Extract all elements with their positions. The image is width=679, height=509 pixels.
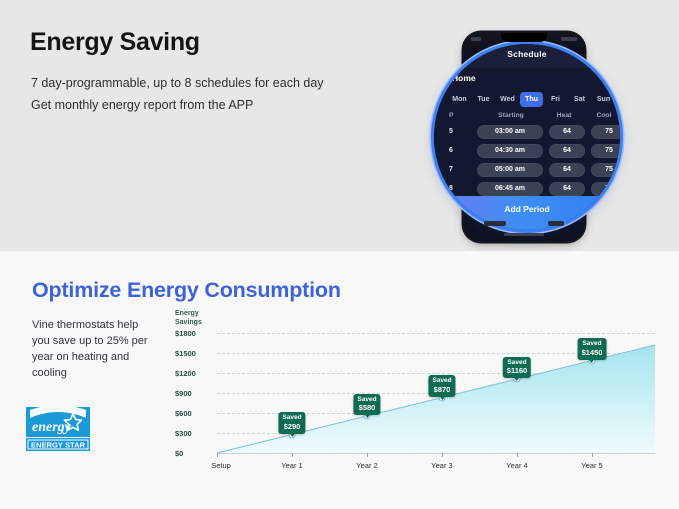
saved-tooltip-year5: Saved $1450 xyxy=(578,338,607,360)
page-root: Energy Saving 7 day-programmable, up to … xyxy=(0,0,679,509)
x-tick-setup xyxy=(217,453,218,457)
row-period: 7 xyxy=(449,166,453,173)
x-label-year2: Year 2 xyxy=(356,461,377,470)
schedule-table-body: 5 03:00 am 64 75 6 04:30 am 64 75 7 05:0… xyxy=(444,125,612,201)
y-tick-1500: $1500 xyxy=(175,349,213,358)
saved-label: Saved xyxy=(432,377,451,385)
saved-label: Saved xyxy=(582,340,603,348)
y-tick-0: $0 xyxy=(175,449,213,458)
row-start-time[interactable]: 03:00 am xyxy=(477,125,543,139)
row-start-time[interactable]: 06:45 am xyxy=(477,182,543,196)
phone-tab-right xyxy=(548,221,564,226)
phone-home-indicator xyxy=(504,233,544,236)
section-title: Optimize Energy Consumption xyxy=(32,278,341,303)
y-tick-900: $900 xyxy=(175,389,213,398)
day-tab-thu[interactable]: Thu xyxy=(520,92,543,107)
y-tick-600: $600 xyxy=(175,409,213,418)
page-subtitle: 7 day-programmable, up to 8 schedules fo… xyxy=(31,72,411,116)
phone-notch xyxy=(501,33,547,42)
add-period-label: Add Period xyxy=(434,204,620,214)
column-header-cool: Cool xyxy=(584,112,620,119)
row-cool-setpoint[interactable]: 75 xyxy=(591,182,620,196)
energy-star-logo: energy ENERGY STAR xyxy=(26,407,90,451)
row-heat-setpoint[interactable]: 64 xyxy=(549,144,585,158)
table-row: 7 05:00 am 64 75 xyxy=(444,163,612,179)
column-header-starting: Starting xyxy=(481,112,541,119)
app-header: Schedule xyxy=(434,44,620,68)
saved-label: Saved xyxy=(282,414,301,422)
row-period: 8 xyxy=(449,185,453,192)
saved-amount: $580 xyxy=(357,403,376,412)
optimize-energy-section: Optimize Energy Consumption Vine thermos… xyxy=(0,251,679,509)
x-tick-year2 xyxy=(367,453,368,457)
row-heat-setpoint[interactable]: 64 xyxy=(549,125,585,139)
day-tab-sun[interactable]: Sun xyxy=(592,92,615,107)
day-tab-sat[interactable]: Sat xyxy=(568,92,591,107)
x-tick-year4 xyxy=(517,453,518,457)
energy-star-icon: energy ENERGY STAR xyxy=(26,407,90,451)
app-title: Schedule xyxy=(434,49,620,59)
x-label-year1: Year 1 xyxy=(281,461,302,470)
row-period: 5 xyxy=(449,128,453,135)
day-tab-wed[interactable]: Wed xyxy=(496,92,519,107)
saved-label: Saved xyxy=(507,359,527,367)
x-tick-year3 xyxy=(442,453,443,457)
day-selector[interactable]: Mon Tue Wed Thu Fri Sat Sun xyxy=(448,92,610,107)
energy-savings-chart: Energy Savings $1800 $1500 $1200 $900 $6… xyxy=(175,311,665,486)
y-axis-title: Energy Savings xyxy=(175,309,221,327)
saved-tooltip-year4: Saved $1160 xyxy=(503,357,531,379)
row-period: 6 xyxy=(449,147,453,154)
saved-tooltip-year2: Saved $580 xyxy=(353,394,380,416)
saved-tooltip-year3: Saved $870 xyxy=(428,375,455,397)
subtitle-line-1: 7 day-programmable, up to 8 schedules fo… xyxy=(31,72,411,94)
x-tick-year1 xyxy=(292,453,293,457)
saved-amount: $290 xyxy=(282,422,301,431)
y-tick-300: $300 xyxy=(175,429,213,438)
status-bar-indicators xyxy=(561,37,577,41)
row-cool-setpoint[interactable]: 75 xyxy=(591,125,620,139)
subtitle-line-2: Get monthly energy report from the APP xyxy=(31,94,411,116)
x-label-setup: Setup xyxy=(211,461,231,470)
day-tab-fri[interactable]: Fri xyxy=(544,92,567,107)
day-tab-tue[interactable]: Tue xyxy=(472,92,495,107)
table-row: 6 04:30 am 64 75 xyxy=(444,144,612,160)
page-title: Energy Saving xyxy=(30,28,200,57)
energy-star-wordmark: ENERGY STAR xyxy=(31,441,86,450)
x-axis-line xyxy=(217,453,655,454)
saved-label: Saved xyxy=(357,396,376,404)
column-header-period: P xyxy=(449,112,454,119)
saved-amount: $1160 xyxy=(507,366,527,375)
row-heat-setpoint[interactable]: 64 xyxy=(549,163,585,177)
energy-saving-section: Energy Saving 7 day-programmable, up to … xyxy=(0,0,679,251)
row-start-time[interactable]: 05:00 am xyxy=(477,163,543,177)
x-label-year5: Year 5 xyxy=(581,461,602,470)
schedule-table-header: P Starting Heat Cool xyxy=(444,112,612,124)
y-tick-1800: $1800 xyxy=(175,329,213,338)
phone-tab-left xyxy=(484,221,506,226)
saved-amount: $1450 xyxy=(582,348,603,357)
home-label: Home xyxy=(452,73,476,83)
row-cool-setpoint[interactable]: 75 xyxy=(591,144,620,158)
app-body: Home Mon Tue Wed Thu Fri Sat Sun P Start… xyxy=(434,68,620,196)
row-heat-setpoint[interactable]: 64 xyxy=(549,182,585,196)
column-header-heat: Heat xyxy=(544,112,584,119)
row-start-time[interactable]: 04:30 am xyxy=(477,144,543,158)
section-copy: Vine thermostats help you save up to 25%… xyxy=(32,317,158,381)
schedule-magnifier: Schedule Home Mon Tue Wed Thu Fri Sat Su… xyxy=(434,44,620,230)
x-label-year3: Year 3 xyxy=(431,461,452,470)
table-row: 5 03:00 am 64 75 xyxy=(444,125,612,141)
x-label-year4: Year 4 xyxy=(506,461,527,470)
status-bar-time xyxy=(471,37,481,41)
saved-amount: $870 xyxy=(432,385,451,394)
day-tab-mon[interactable]: Mon xyxy=(448,92,471,107)
x-tick-year5 xyxy=(592,453,593,457)
row-cool-setpoint[interactable]: 75 xyxy=(591,163,620,177)
saved-tooltip-year1: Saved $290 xyxy=(278,412,305,434)
y-tick-1200: $1200 xyxy=(175,369,213,378)
phone-bottom-tabs xyxy=(464,218,584,230)
